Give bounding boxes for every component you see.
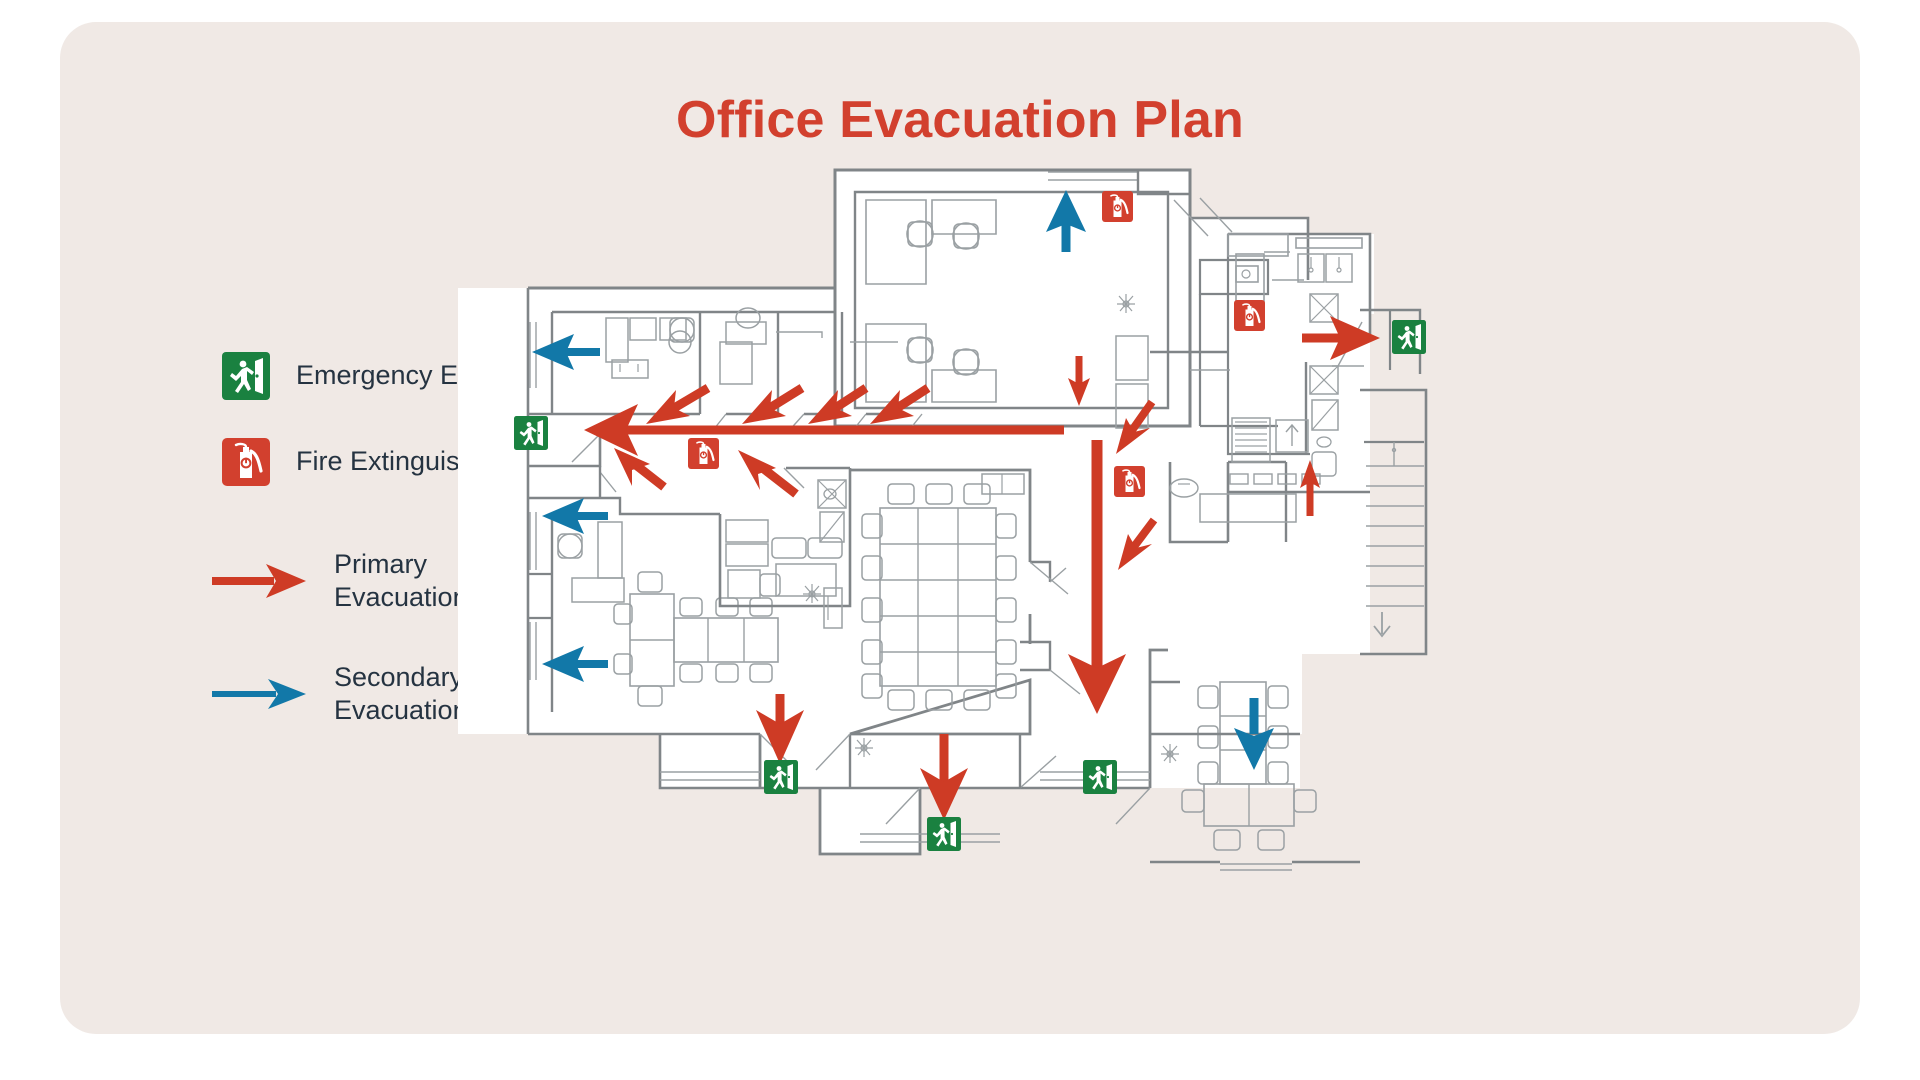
exit-sign-south-center[interactable]: [927, 817, 961, 851]
plan-card: Office Evacuation Plan Emergency Exits: [60, 22, 1860, 1034]
route-office-branch-1: [646, 388, 708, 424]
exit-sign-northeast[interactable]: [1392, 320, 1426, 354]
legend-item-label: Primary Evacuation Route: [334, 548, 547, 615]
fire-extinguisher-north[interactable]: [1102, 191, 1133, 222]
route-sw-down: [756, 694, 804, 764]
page-title: Office Evacuation Plan: [60, 90, 1860, 150]
northeast-utility: [1116, 198, 1308, 428]
boardroom: [824, 470, 1080, 734]
south-corridor: [660, 584, 1300, 854]
route-sec-north-up: [1046, 190, 1086, 252]
route-main-corridor-west: [584, 404, 1064, 456]
legend-item-emergency-exits[interactable]: Emergency Exits: [210, 352, 630, 400]
north-open-office: [835, 170, 1190, 426]
stairwell: [1360, 390, 1426, 654]
southeast-meeting-room: [1150, 650, 1360, 870]
fire-extinguisher-east-hall[interactable]: [1114, 466, 1145, 497]
legend-item-label: Fire Extinguisher: [296, 445, 499, 478]
route-office-branch-2: [742, 388, 802, 424]
route-central-spine: [1068, 440, 1126, 714]
primary-evacuation-routes: [584, 316, 1380, 820]
blue-arrow-icon: [210, 673, 320, 715]
route-office-branch-3: [808, 388, 866, 424]
emergency-exit-icon: [210, 352, 282, 400]
route-stair-up: [1300, 460, 1320, 516]
exit-signs: [514, 320, 1426, 851]
central-core: [720, 468, 850, 606]
legend-item-primary-route[interactable]: Primary Evacuation Route: [210, 548, 630, 615]
northeast-vestibule: [1332, 310, 1420, 374]
legend-item-label: Emergency Exits: [296, 359, 499, 392]
route-lower-right-join: [738, 450, 796, 494]
route-north-lobby-down: [1068, 356, 1090, 406]
fire-extinguishers: [688, 191, 1265, 497]
fire-extinguisher-kitchen[interactable]: [1234, 300, 1265, 331]
legend-item-fire-extinguisher[interactable]: Fire Extinguisher: [210, 438, 630, 486]
exit-sign-southeast[interactable]: [1083, 760, 1117, 794]
route-s-center-down: [920, 734, 968, 820]
exit-sign-southwest[interactable]: [764, 760, 798, 794]
route-east-exit-right: [1302, 316, 1380, 360]
route-east-diag-2: [1118, 520, 1154, 570]
red-arrow-icon: [210, 560, 320, 602]
route-sec-se-down: [1234, 698, 1274, 770]
fire-extinguisher-icon: [210, 438, 282, 486]
legend: Emergency Exits Fire Extinguisher: [210, 352, 630, 728]
fire-extinguisher-corridor[interactable]: [688, 438, 719, 469]
route-office-branch-4: [870, 388, 928, 424]
kitchen: [1228, 234, 1370, 454]
east-hall: [1150, 352, 1370, 542]
route-east-diag-1: [1116, 402, 1152, 454]
secondary-evacuation-routes: [532, 190, 1274, 770]
legend-item-label: Secondary Evacuation Route: [334, 661, 547, 728]
legend-item-secondary-route[interactable]: Secondary Evacuation Route: [210, 661, 630, 728]
east-service: [1228, 362, 1338, 542]
